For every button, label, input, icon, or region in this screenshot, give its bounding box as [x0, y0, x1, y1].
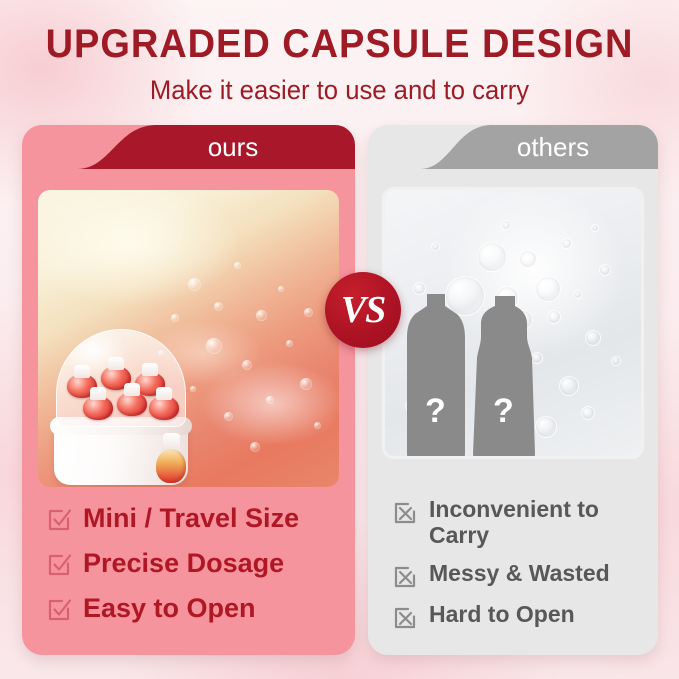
list-item-label: Hard to Open [429, 602, 575, 628]
page-subtitle: Make it easier to use and to carry [17, 77, 662, 104]
feature-list-others: Inconvenient to Carry Messy & Wasted H [368, 497, 658, 643]
list-item: Mini / Travel Size [46, 503, 355, 533]
list-item-label: Messy & Wasted [429, 561, 610, 587]
product-image-ours [38, 190, 339, 487]
vs-badge: VS [325, 272, 401, 348]
product-image-others: ? ? [382, 187, 644, 459]
list-item: Precise Dosage [46, 548, 355, 578]
question-mark-right: ? [493, 392, 514, 431]
list-item: Easy to Open [46, 593, 355, 623]
banner-ours: ours [77, 125, 355, 169]
banner-others: others [420, 125, 658, 169]
bottle-silhouette-left: ? [405, 294, 467, 459]
loose-capsule [156, 433, 186, 483]
question-mark-left: ? [425, 392, 446, 431]
checkbox-x-icon [392, 605, 418, 631]
list-item-label: Precise Dosage [83, 548, 284, 578]
checkbox-x-icon [392, 564, 418, 590]
checkbox-check-icon [46, 507, 72, 533]
banner-others-label: others [420, 125, 658, 169]
comparison-card-ours: ours [22, 125, 355, 655]
list-item-label: Easy to Open [83, 593, 256, 623]
list-item-label: Inconvenient to Carry [429, 497, 614, 549]
checkbox-check-icon [46, 597, 72, 623]
list-item-label: Mini / Travel Size [83, 503, 299, 533]
header: UPGRADED CAPSULE DESIGN Make it easier t… [0, 0, 679, 118]
jar-dome-lid [56, 329, 186, 427]
list-item: Hard to Open [392, 602, 658, 631]
feature-list-ours: Mini / Travel Size Precise Dosage Easy t… [22, 503, 355, 639]
checkbox-check-icon [46, 552, 72, 578]
comparison-card-others: others ? [368, 125, 658, 655]
list-item: Inconvenient to Carry [392, 497, 658, 549]
checkbox-x-icon [392, 500, 418, 526]
list-item: Messy & Wasted [392, 561, 658, 590]
banner-ours-label: ours [77, 125, 355, 169]
page-title: UPGRADED CAPSULE DESIGN [17, 24, 662, 64]
bottle-silhouette-right: ? [471, 296, 537, 459]
vs-badge-label: VS [341, 291, 385, 329]
